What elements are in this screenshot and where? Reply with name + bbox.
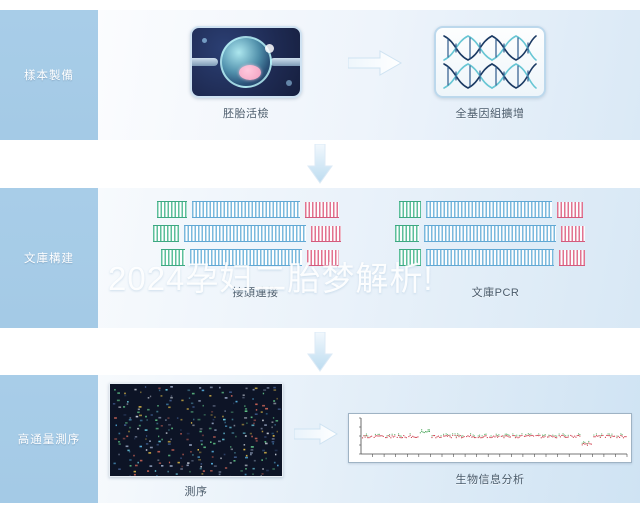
stage-label-library-construction: 文庫構建	[0, 188, 98, 328]
embryo-biopsy-image	[190, 26, 302, 98]
embryo-cell-shape	[220, 36, 272, 88]
pipette-left-icon	[192, 58, 218, 66]
panel-bioinformatics-analysis: 生物信息分析	[348, 413, 632, 487]
stage-label-text: 樣本製備	[24, 67, 74, 83]
stage-body-library-construction: 接頭連接	[98, 188, 640, 328]
panel-caption: 胚胎活檢	[186, 105, 306, 121]
panel-caption: 接頭連接	[148, 284, 363, 300]
stage-label-text: 高通量測序	[18, 431, 81, 447]
dna-fragment-adapter-graphic	[153, 202, 358, 274]
panel-caption: 生物信息分析	[348, 471, 632, 487]
panel-whole-genome-amplification: 全基因組擴增	[430, 26, 550, 121]
panel-caption: 文庫PCR	[388, 284, 603, 300]
background-dot	[202, 38, 207, 43]
pgt-workflow-diagram: 樣本製備 胚胎活檢	[0, 0, 640, 513]
panel-library-pcr: 文庫PCR	[388, 202, 603, 300]
arrow-down-icon	[307, 144, 333, 184]
stage-body-sample-preparation: 胚胎活檢	[98, 10, 640, 140]
panel-sequencing: 測序	[108, 383, 284, 499]
dna-helix-image	[434, 26, 546, 98]
background-dot	[286, 80, 292, 86]
workflow-row-sample-preparation: 樣本製備 胚胎活檢	[0, 10, 640, 140]
panel-caption: 全基因組擴增	[430, 105, 550, 121]
pipette-right-icon	[270, 58, 300, 66]
workflow-row-library-construction: 文庫構建	[0, 188, 640, 328]
stage-body-sequencing: 測序 生物信息分析	[98, 375, 640, 503]
arrow-right-icon	[348, 50, 402, 76]
panel-adapter-ligation: 接頭連接	[148, 202, 363, 300]
arrow-right-icon	[294, 423, 338, 449]
cnv-plot-chart	[348, 413, 632, 463]
panel-embryo-biopsy: 胚胎活檢	[186, 26, 306, 121]
inner-cell-mass-shape	[239, 65, 261, 80]
stage-label-sample-preparation: 樣本製備	[0, 10, 98, 140]
stage-label-text: 文庫構建	[24, 250, 74, 266]
dna-fragment-pcr-graphic	[393, 202, 598, 274]
stage-label-sequencing: 高通量測序	[0, 375, 98, 503]
sequencing-flowcell-image	[109, 383, 283, 477]
workflow-row-sequencing: 高通量測序 測序 生物信息分	[0, 375, 640, 503]
arrow-down-icon	[307, 332, 333, 372]
panel-caption: 測序	[108, 483, 284, 499]
polar-body-dot	[265, 44, 274, 53]
